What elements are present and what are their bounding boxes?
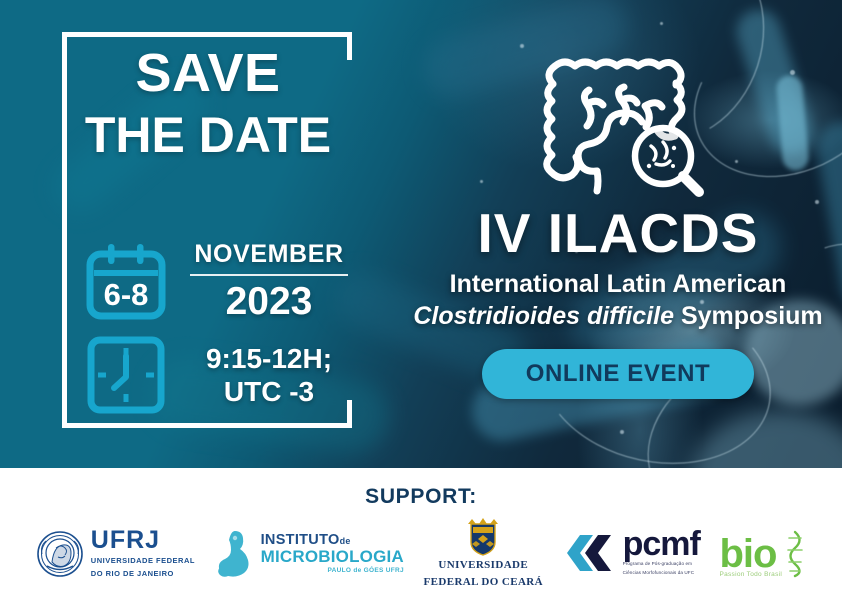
logo-instituto-microbiologia[interactable]: INSTITUTOde MICROBIOLOGIA PAULO de GÓES … xyxy=(215,529,404,579)
event-subtitle-line-1: International Latin American xyxy=(398,270,838,300)
ufc-line-2: FEDERAL DO CEARÁ xyxy=(424,576,543,590)
event-subtitle-rest: Symposium xyxy=(674,302,823,330)
bio-wordmark: bio xyxy=(719,538,782,570)
ufrj-line-2: DO RIO DE JANEIRO xyxy=(91,569,195,579)
bio-dna-squiggle-icon xyxy=(784,530,806,578)
time-text: 9:15-12H; UTC -3 xyxy=(184,342,354,408)
event-subtitle-italic: Clostridioides difficile xyxy=(413,302,674,330)
ufc-line-1: UNIVERSIDADE xyxy=(438,559,528,573)
time-row: 9:15-12H; UTC -3 xyxy=(84,334,354,416)
logo-bio[interactable]: bio Passion Todo Brasil xyxy=(719,530,806,578)
support-footer: SUPPORT: UFRJ UNIVERSIDADE FEDERAL xyxy=(0,468,842,595)
online-event-badge[interactable]: ONLINE EVENT xyxy=(482,349,755,399)
microbe-mark-icon xyxy=(215,529,257,579)
ufrj-seal-icon xyxy=(36,530,84,578)
event-subtitle-line-2: Clostridioides difficile Symposium xyxy=(398,302,838,332)
logo-ufrj[interactable]: UFRJ UNIVERSIDADE FEDERAL DO RIO DE JANE… xyxy=(36,528,195,579)
save-the-date-heading: SAVE THE DATE xyxy=(62,46,354,160)
event-identity-block: IV ILACDS International Latin American C… xyxy=(398,42,838,399)
logo-pcmf[interactable]: pcmf Programa de Pós-graduação em Ciênci… xyxy=(563,530,700,577)
save-the-date-line-2: THE DATE xyxy=(62,110,354,160)
pcmf-chevron-icon xyxy=(563,530,615,576)
imic-line-3: PAULO de GÓES UFRJ xyxy=(261,567,404,574)
ufrj-line-1: UNIVERSIDADE FEDERAL xyxy=(91,556,195,566)
date-divider xyxy=(190,274,348,276)
imic-line-1-suffix: de xyxy=(340,536,351,546)
time-line-1: 9:15-12H; xyxy=(184,342,354,375)
ufrj-acronym: UFRJ xyxy=(91,528,195,553)
pcmf-tagline-2: Ciências Morfofuncionais da UFC xyxy=(623,570,700,577)
hero-banner: SAVE THE DATE 6-8 NOVEMBER xyxy=(0,0,842,468)
save-the-date-line-1: SAVE xyxy=(62,46,354,100)
pcmf-tagline-1: Programa de Pós-graduação em xyxy=(623,561,700,568)
sponsor-logo-row: UFRJ UNIVERSIDADE FEDERAL DO RIO DE JANE… xyxy=(0,516,842,591)
imic-line-1: INSTITUTO xyxy=(261,532,340,548)
bio-tagline: Passion Todo Brasil xyxy=(719,571,782,578)
event-title: IV ILACDS xyxy=(398,206,838,261)
year-label: 2023 xyxy=(184,282,354,321)
imic-line-2: MICROBIOLOGIA xyxy=(261,548,404,565)
calendar-days-label: 6-8 xyxy=(104,277,149,312)
date-time-block: 6-8 NOVEMBER 2023 xyxy=(84,240,354,416)
logo-universidade-federal-do-ceara[interactable]: UNIVERSIDADE FEDERAL DO CEARÁ xyxy=(424,518,543,590)
pcmf-wordmark: pcmf xyxy=(623,530,700,559)
ufc-crest-icon xyxy=(467,518,499,556)
intestine-magnifier-icon xyxy=(523,42,713,202)
time-line-2: UTC -3 xyxy=(184,375,354,408)
clock-icon xyxy=(84,334,168,416)
month-year-text: NOVEMBER 2023 xyxy=(184,242,354,321)
date-row: 6-8 NOVEMBER 2023 xyxy=(84,240,354,322)
month-label: NOVEMBER xyxy=(184,242,354,267)
poster-canvas: SAVE THE DATE 6-8 NOVEMBER xyxy=(0,0,842,595)
support-label: SUPPORT: xyxy=(0,468,842,509)
calendar-icon: 6-8 xyxy=(84,240,168,322)
